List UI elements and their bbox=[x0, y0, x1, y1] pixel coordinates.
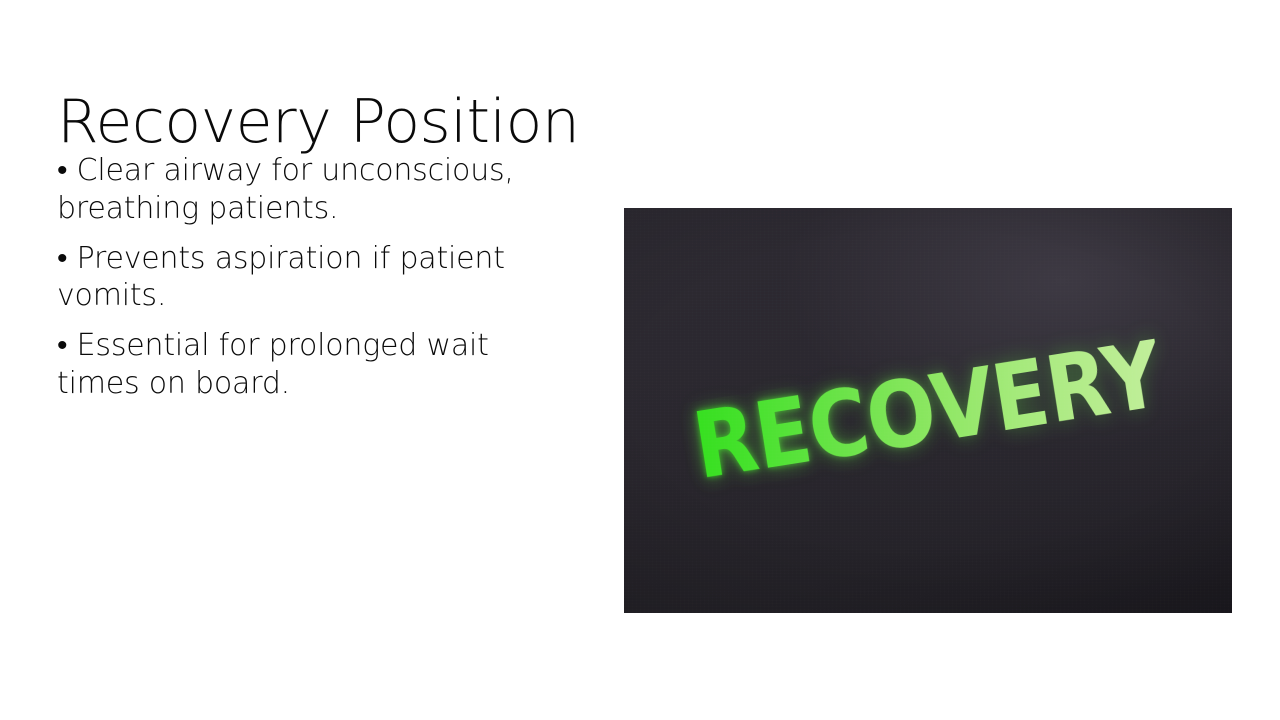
list-item: • Essential for prolonged wait times on … bbox=[57, 327, 549, 403]
recovery-neon-sign-photo: RECOVERY RECOVERY bbox=[624, 208, 1232, 613]
list-item-text: Prevents aspiration if patient vomits. bbox=[57, 241, 505, 314]
photo-word-group: RECOVERY RECOVERY bbox=[644, 321, 1211, 499]
list-item: • Clear airway for unconscious, breathin… bbox=[57, 152, 549, 228]
list-item: • Prevents aspiration if patient vomits. bbox=[57, 240, 549, 316]
photo-word-sharp: RECOVERY bbox=[688, 328, 1168, 493]
list-item-text: Clear airway for unconscious, breathing … bbox=[57, 153, 514, 226]
page-title: Recovery Position bbox=[57, 90, 677, 155]
bullet-marker-icon: • bbox=[57, 328, 67, 363]
list-item-text: Essential for prolonged wait times on bo… bbox=[57, 328, 489, 401]
bullet-list: • Clear airway for unconscious, breathin… bbox=[57, 152, 549, 403]
bullet-marker-icon: • bbox=[57, 153, 67, 188]
slide-canvas: Recovery Position • Clear airway for unc… bbox=[0, 0, 1280, 720]
bullet-marker-icon: • bbox=[57, 241, 67, 276]
